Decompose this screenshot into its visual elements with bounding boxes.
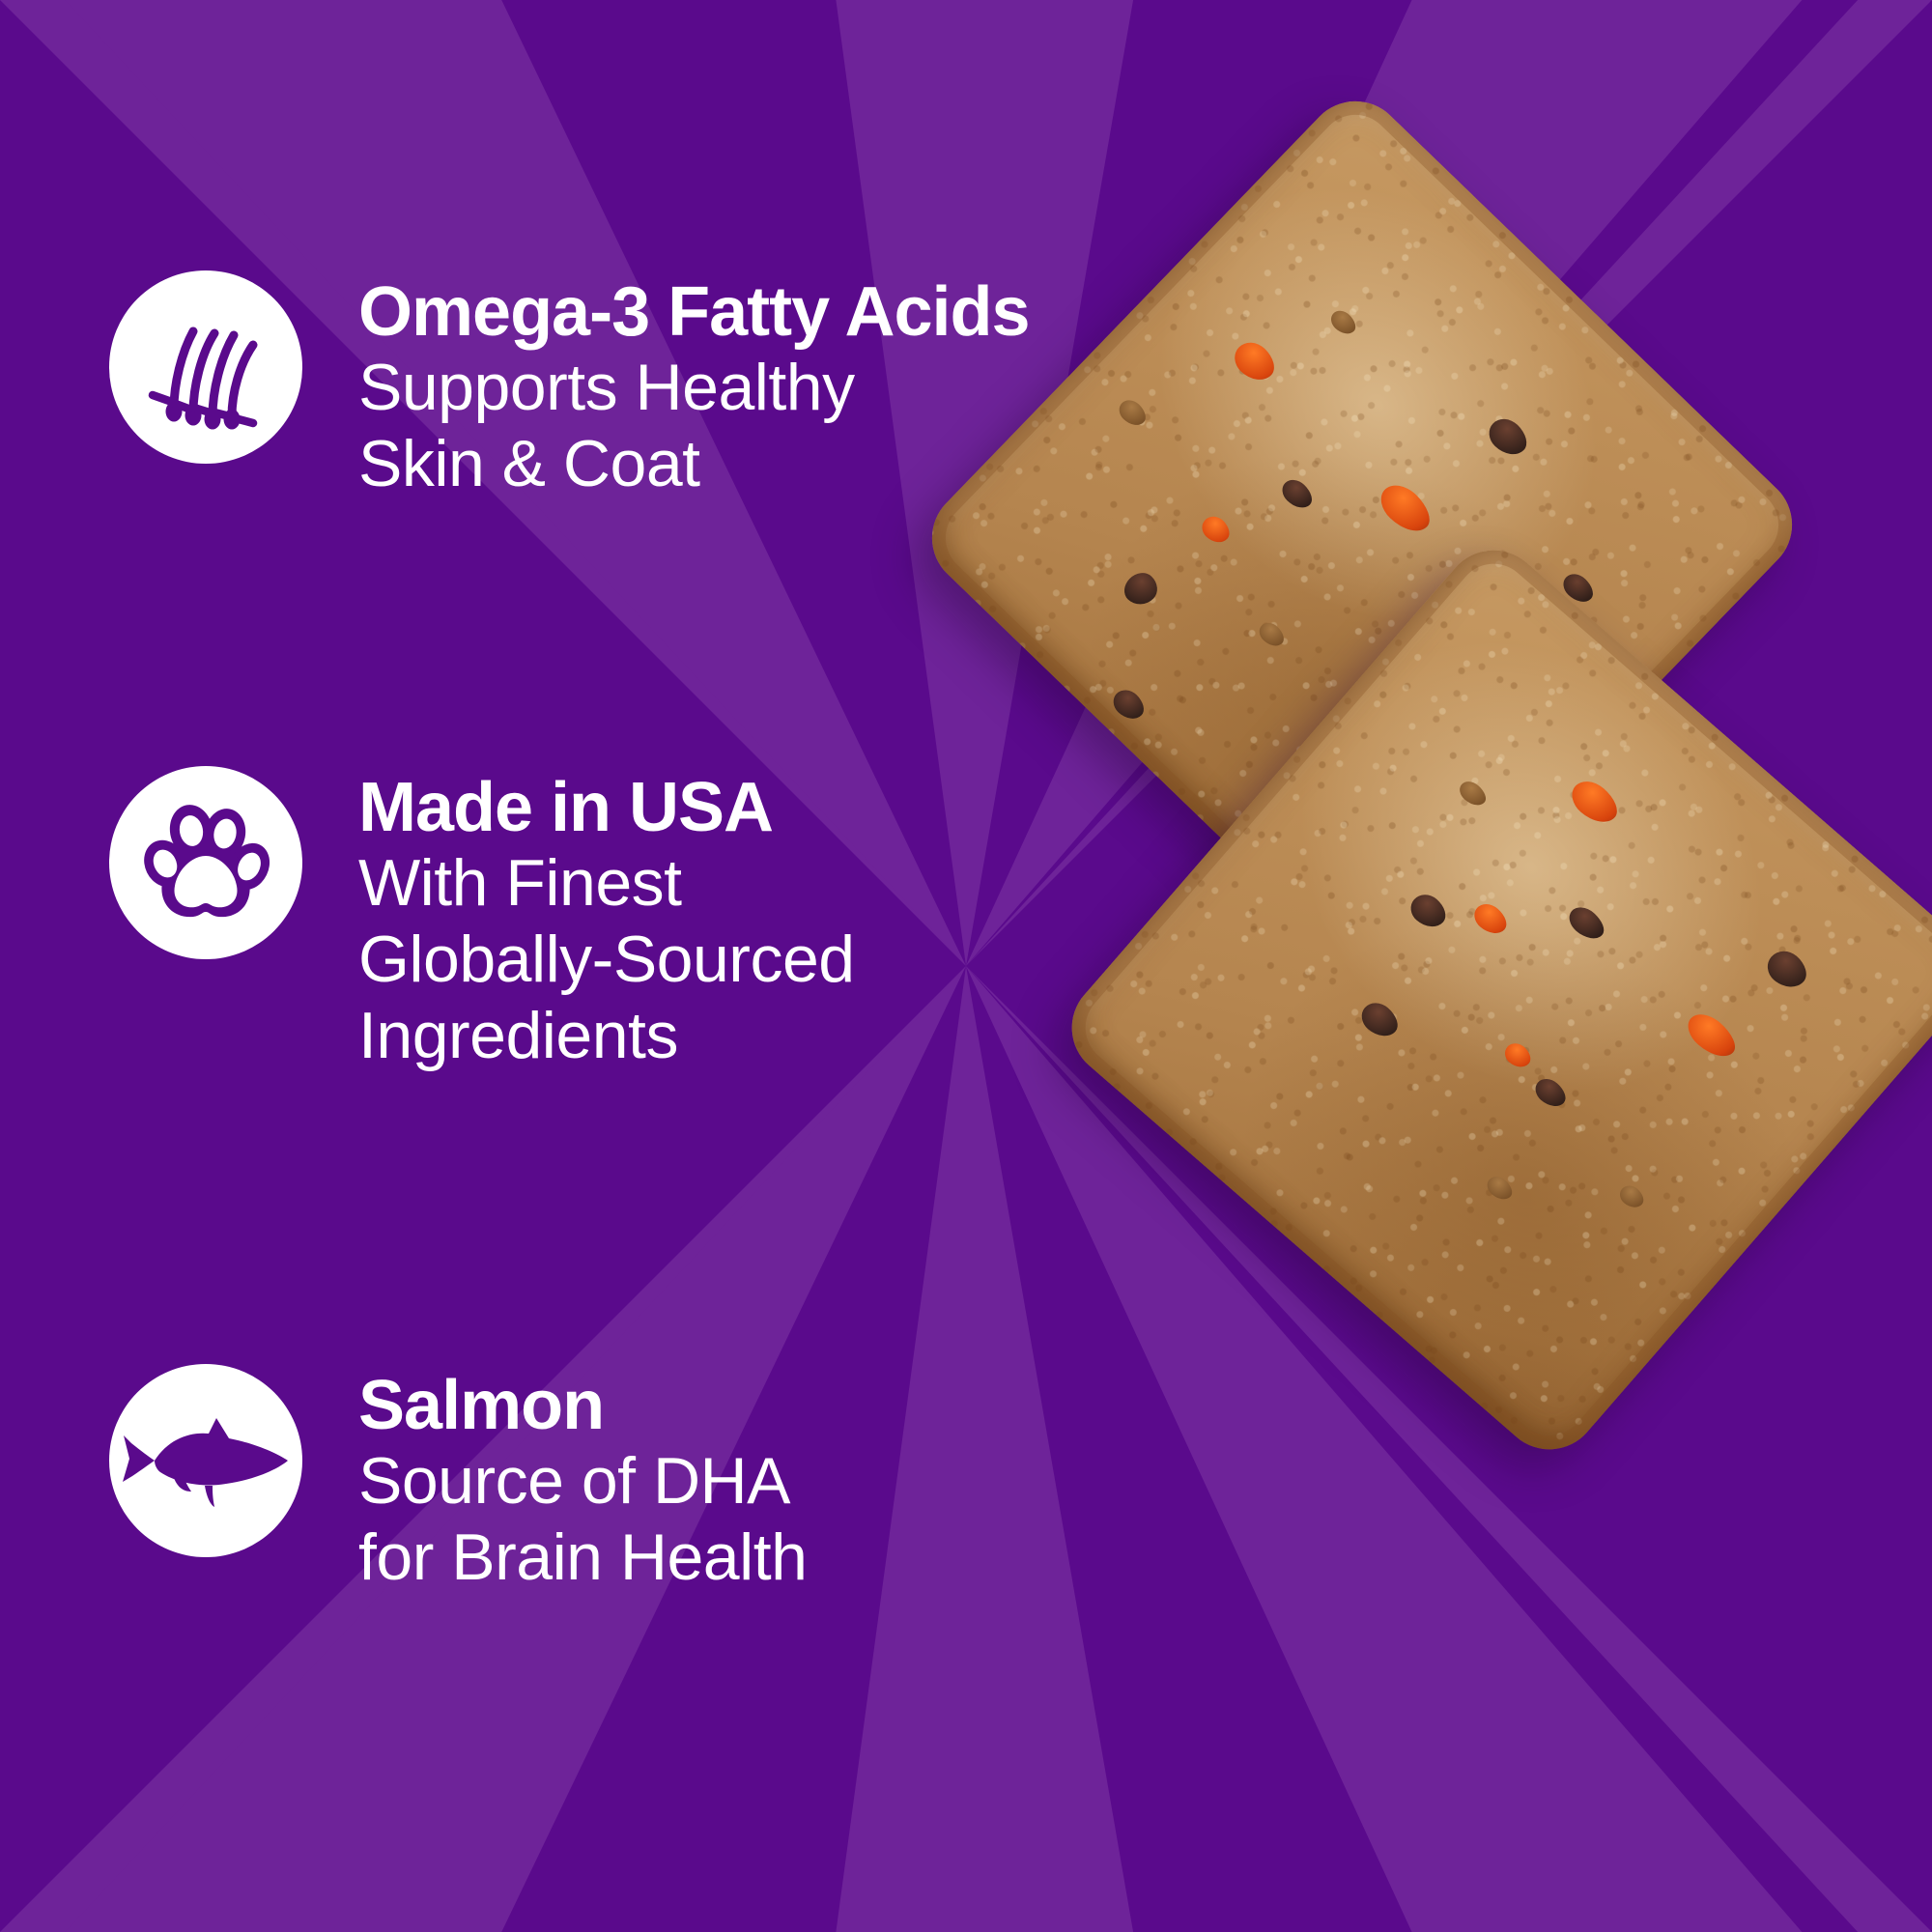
feature-title: Omega-3 Fatty Acids: [358, 274, 1030, 350]
feature-subtitle-line: Globally-Sourced: [358, 922, 855, 998]
feature-made-in-usa: Made in USA With Finest Globally-Sourced…: [109, 766, 855, 1074]
salmon-fish-icon: [109, 1364, 302, 1557]
feature-subtitle-line: for Brain Health: [358, 1520, 807, 1596]
feature-subtitle-line: Skin & Coat: [358, 426, 1030, 502]
feature-text: Salmon Source of DHA for Brain Health: [358, 1364, 807, 1596]
dog-treat-biscuits: [1043, 213, 1932, 1372]
feature-text: Made in USA With Finest Globally-Sourced…: [358, 766, 855, 1074]
feature-title: Salmon: [358, 1368, 807, 1443]
feature-text: Omega-3 Fatty Acids Supports Healthy Ski…: [358, 270, 1030, 502]
feature-subtitle-line: Ingredients: [358, 998, 855, 1074]
hair-follicle-icon: [109, 270, 302, 464]
feature-subtitle-line: With Finest: [358, 845, 855, 922]
promo-banner: Omega-3 Fatty Acids Supports Healthy Ski…: [0, 0, 1932, 1932]
feature-omega-3: Omega-3 Fatty Acids Supports Healthy Ski…: [109, 270, 1030, 502]
feature-subtitle-line: Source of DHA: [358, 1443, 807, 1520]
feature-salmon: Salmon Source of DHA for Brain Health: [109, 1364, 807, 1596]
feature-title: Made in USA: [358, 770, 855, 845]
paw-print-icon: [109, 766, 302, 959]
feature-list: Omega-3 Fatty Acids Supports Healthy Ski…: [0, 0, 1111, 1932]
feature-subtitle-line: Supports Healthy: [358, 350, 1030, 426]
